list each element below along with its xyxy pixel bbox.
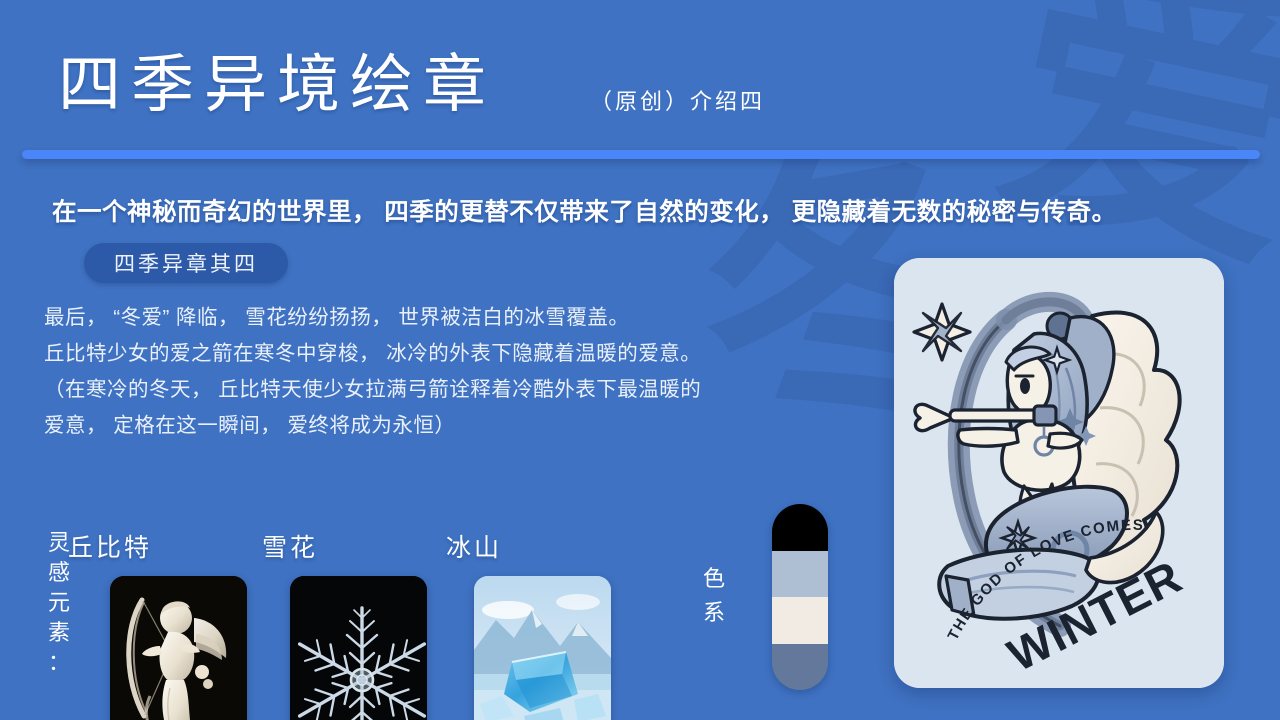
palette-swatch-3 <box>772 597 828 644</box>
body-line: 爱意， 定格在这一瞬间， 爱终将成为永恒） <box>44 408 864 444</box>
inspiration-label-char: 素 <box>44 618 74 648</box>
body-paragraph: 最后， “冬爱” 降临， 雪花纷纷扬扬， 世界被洁白的冰雪覆盖。 丘比特少女的爱… <box>44 300 864 444</box>
illustration-card[interactable]: THE GOD OF LOVE COMES. WINTER <box>894 258 1224 688</box>
page-subtitle: （原创）介绍四 <box>590 84 765 116</box>
header-divider <box>22 150 1260 159</box>
poster-canvas: 爱 冬 四季异境绘章 （原创）介绍四 在一个神秘而奇幻的世界里， 四季的更替不仅… <box>0 0 1280 720</box>
inspiration-caption: 丘比特 <box>68 528 152 564</box>
palette-label: 色 系 <box>700 562 728 630</box>
color-palette <box>772 504 828 690</box>
header: 四季异境绘章 （原创）介绍四 <box>0 0 1280 150</box>
section-badge-label: 四季异章其四 <box>114 248 258 278</box>
inspiration-label-char: 元 <box>44 588 74 618</box>
palette-label-char: 色 <box>700 562 728 596</box>
body-line: （在寒冷的冬天， 丘比特天使少女拉满弓箭诠释着冷酷外表下最温暖的 <box>44 372 864 408</box>
palette-swatch-4 <box>772 644 828 691</box>
page-title: 四季异境绘章 <box>58 34 496 125</box>
body-line: 丘比特少女的爱之箭在寒冬中穿梭， 冰冷的外表下隐藏着温暖的爱意。 <box>44 336 864 372</box>
cupid-statue-thumbnail[interactable] <box>110 576 247 720</box>
iceberg-thumbnail[interactable] <box>474 576 611 720</box>
section-badge: 四季异章其四 <box>84 243 288 283</box>
inspiration-caption: 雪花 <box>262 528 318 564</box>
inspiration-label-char: ： <box>44 648 74 678</box>
tagline: 在一个神秘而奇幻的世界里， 四季的更替不仅带来了自然的变化， 更隐藏着无数的秘密… <box>52 193 1117 228</box>
palette-label-char: 系 <box>700 596 728 630</box>
snowflake-macro-thumbnail[interactable] <box>290 576 427 720</box>
inspiration-caption: 冰山 <box>446 528 502 564</box>
palette-swatch-2 <box>772 551 828 598</box>
body-line: 最后， “冬爱” 降临， 雪花纷纷扬扬， 世界被洁白的冰雪覆盖。 <box>44 300 864 336</box>
palette-swatch-1 <box>772 504 828 551</box>
